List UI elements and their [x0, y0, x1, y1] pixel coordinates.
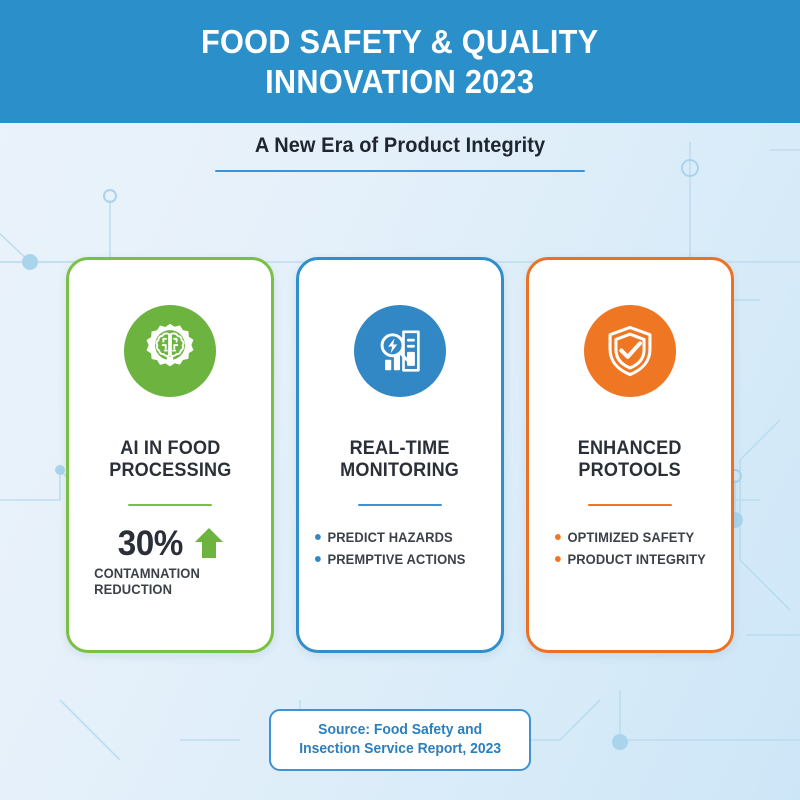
subtitle-text: A New Era of Product Integrity: [20, 134, 780, 158]
card-title-line-1: AI IN FOOD: [109, 438, 231, 460]
icon-circle-green: [124, 305, 216, 397]
card-title-line-2: PROCESSING: [109, 460, 231, 482]
page-title-line-2: INNOVATION 2023: [201, 62, 598, 102]
list-item-label: PRODUCT INTEGRITY: [567, 549, 705, 571]
card-title-protocols: ENHANCED PROTOOLS: [570, 438, 689, 483]
icon-circle-orange: [584, 305, 676, 397]
feature-card-row: AI IN FOOD PROCESSING 30% CONTAMNATION R…: [0, 257, 800, 653]
bullet-dot-icon: [315, 556, 321, 562]
bullet-list-monitoring: PREDICT HAZARDS PREMPTIVE ACTIONS: [299, 527, 501, 571]
card-title-line-1: REAL-TIME: [341, 438, 460, 460]
source-line-2: Insection Service Report, 2023: [299, 740, 501, 759]
list-item-label: PREDICT HAZARDS: [327, 527, 452, 549]
stat-caption: CONTAMNATION REDUCTION: [73, 566, 267, 599]
card-title-monitoring: REAL-TIME MONITORING: [333, 438, 467, 483]
subtitle-section: A New Era of Product Integrity: [0, 134, 800, 172]
card-title-line-2: MONITORING: [341, 460, 460, 482]
card-divider-orange: [588, 504, 672, 506]
magnifier-lightning-report-icon: [372, 323, 428, 379]
subtitle-divider: [215, 170, 585, 172]
card-divider-blue: [358, 504, 442, 506]
card-divider-green: [128, 504, 212, 506]
card-title-line-1: ENHANCED: [578, 438, 682, 460]
card-title-line-2: PROTOOLS: [578, 460, 682, 482]
list-item-label: PREMPTIVE ACTIONS: [327, 549, 465, 571]
bullet-dot-icon: [555, 556, 561, 562]
page-title: FOOD SAFETY & QUALITY INNOVATION 2023: [201, 22, 598, 101]
source-citation-text: Source: Food Safety and Insection Servic…: [299, 721, 501, 760]
list-item: PREMPTIVE ACTIONS: [315, 549, 494, 571]
ai-brain-gear-icon: [141, 322, 199, 380]
card-title-ai: AI IN FOOD PROCESSING: [101, 438, 238, 483]
list-item-label: OPTIMIZED SAFETY: [567, 527, 694, 549]
list-item: OPTIMIZED SAFETY: [555, 527, 724, 549]
shield-check-icon: [601, 322, 659, 380]
up-arrow-icon: [194, 527, 224, 559]
bullet-dot-icon: [315, 534, 321, 540]
stat-row-contamination: 30%: [116, 526, 224, 561]
card-enhanced-protocols[interactable]: ENHANCED PROTOOLS OPTIMIZED SAFETY PRODU…: [526, 257, 734, 653]
stat-caption-line-1: CONTAMNATION: [94, 566, 267, 582]
bullet-dot-icon: [555, 534, 561, 540]
infographic-poster: FOOD SAFETY & QUALITY INNOVATION 2023 A …: [0, 0, 800, 800]
header-banner: FOOD SAFETY & QUALITY INNOVATION 2023: [0, 0, 800, 123]
card-real-time-monitoring[interactable]: REAL-TIME MONITORING PREDICT HAZARDS PRE…: [296, 257, 504, 653]
source-citation-box: Source: Food Safety and Insection Servic…: [269, 709, 531, 771]
icon-circle-blue: [354, 305, 446, 397]
bullet-list-protocols: OPTIMIZED SAFETY PRODUCT INTEGRITY: [529, 527, 731, 571]
list-item: PREDICT HAZARDS: [315, 527, 494, 549]
stat-caption-line-2: REDUCTION: [94, 582, 267, 598]
page-title-line-1: FOOD SAFETY & QUALITY: [201, 22, 598, 62]
source-line-1: Source: Food Safety and: [299, 721, 501, 740]
stat-value: 30%: [118, 526, 183, 561]
card-ai-in-food-processing[interactable]: AI IN FOOD PROCESSING 30% CONTAMNATION R…: [66, 257, 274, 653]
list-item: PRODUCT INTEGRITY: [555, 549, 724, 571]
